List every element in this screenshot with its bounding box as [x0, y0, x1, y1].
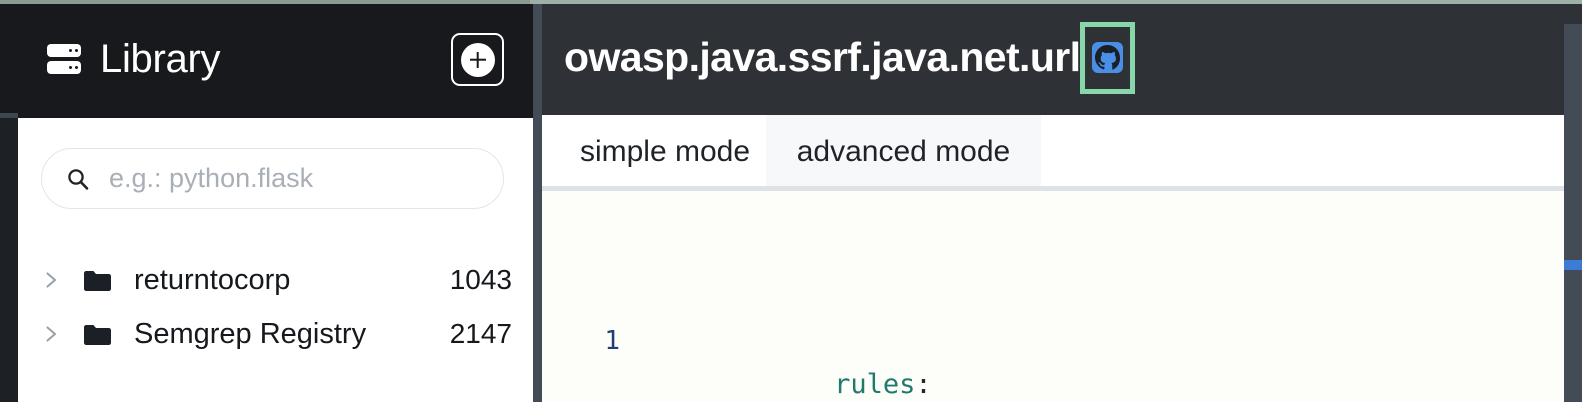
tree-item-label: Semgrep Registry — [134, 318, 366, 351]
mode-tabbar: simple mode advanced mode — [542, 115, 1582, 188]
tab-label: advanced mode — [797, 135, 1011, 169]
add-rule-button[interactable] — [451, 33, 504, 86]
tab-simple-mode[interactable]: simple mode — [542, 115, 766, 188]
window-top-edge-left — [0, 0, 530, 4]
chevron-right-icon[interactable] — [41, 324, 61, 344]
rule-editor-panel: owasp.java.ssrf.java.net.url simple mode… — [542, 0, 1582, 402]
plus-circle-icon — [461, 43, 495, 77]
rule-header: owasp.java.ssrf.java.net.url — [542, 0, 1582, 115]
library-tree: returntocorp 1043 Semgrep Registry 2147 — [18, 253, 533, 361]
github-link-highlight[interactable] — [1080, 22, 1135, 94]
search-field[interactable] — [41, 148, 504, 209]
semgrep-editor-window: Library returntocorp — [0, 0, 1582, 402]
tree-item-count: 2147 — [450, 318, 512, 350]
chevron-right-icon[interactable] — [41, 270, 61, 290]
tree-item-returntocorp[interactable]: returntocorp 1043 — [18, 253, 533, 307]
yaml-key: rules — [834, 369, 915, 400]
library-header: Library — [0, 0, 533, 118]
line-number: 1 — [542, 320, 620, 363]
scrollbar-thumb[interactable] — [1564, 260, 1582, 270]
search-input[interactable] — [107, 162, 481, 195]
folder-icon — [83, 323, 112, 346]
code-content: 1 rules: 2 - id: owasp.java.ssrf.java.ne… — [542, 191, 1582, 402]
page-title: owasp.java.ssrf.java.net.url — [564, 34, 1080, 81]
panel-divider[interactable] — [533, 0, 542, 402]
library-sidebar: Library returntocorp — [0, 0, 533, 402]
vertical-scrollbar[interactable] — [1564, 24, 1582, 402]
tree-item-label: returntocorp — [134, 264, 290, 297]
server-stack-icon — [47, 42, 81, 76]
yaml-code-editor[interactable]: 1 rules: 2 - id: owasp.java.ssrf.java.ne… — [542, 191, 1582, 402]
github-octocat-glyph — [1095, 45, 1120, 70]
code-line-1: 1 rules: — [542, 320, 1582, 402]
tree-item-semgrep-registry[interactable]: Semgrep Registry 2147 — [18, 307, 533, 361]
search-icon — [66, 167, 90, 191]
sidebar-left-rail — [0, 118, 18, 402]
folder-icon — [83, 269, 112, 292]
tab-label: simple mode — [580, 135, 750, 169]
tree-item-count: 1043 — [450, 264, 512, 296]
github-icon[interactable] — [1092, 42, 1123, 73]
yaml-colon: : — [915, 369, 931, 400]
library-title: Library — [100, 39, 220, 79]
tab-advanced-mode[interactable]: advanced mode — [766, 115, 1041, 188]
